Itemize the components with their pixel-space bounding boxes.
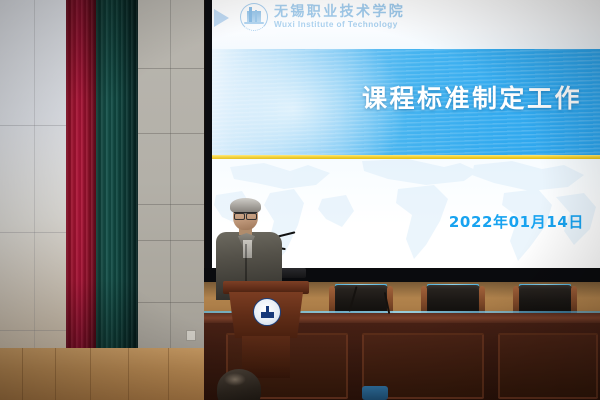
slide-title: 课程标准制定工作 [362,79,582,115]
slide-title-banner: 课程标准制定工作 [212,49,600,157]
university-name-block: 无锡职业技术学院 Wuxi Institute of Technology [274,5,405,29]
slide-date: 2022年01月14日 [449,211,584,232]
decorative-arrow-icon [214,9,229,27]
university-seal-logo-icon [240,3,268,31]
left-wall-panels [0,0,66,400]
podium-emblem-icon [253,298,281,326]
red-curtain [66,0,98,400]
university-name-cn: 无锡职业技术学院 [274,5,405,19]
conference-hall-photo: 无锡职业技术学院 Wuxi Institute of Technology 课程… [0,0,600,400]
speaker-jacket-placket [245,244,247,284]
foreground-object [362,386,388,400]
speaker-podium [223,281,309,376]
grey-wall-panels [138,0,204,400]
university-name-en: Wuxi Institute of Technology [274,21,405,29]
slide-header-area: 无锡职业技术学院 Wuxi Institute of Technology [212,0,600,50]
wall-outlet [186,330,196,341]
wood-floor [0,348,210,400]
green-curtain [96,0,138,400]
curtain-shading [66,0,98,400]
speaker-glasses [234,212,257,218]
slide-logo-block: 无锡职业技术学院 Wuxi Institute of Technology [240,3,405,31]
curtain-shading [96,0,138,400]
